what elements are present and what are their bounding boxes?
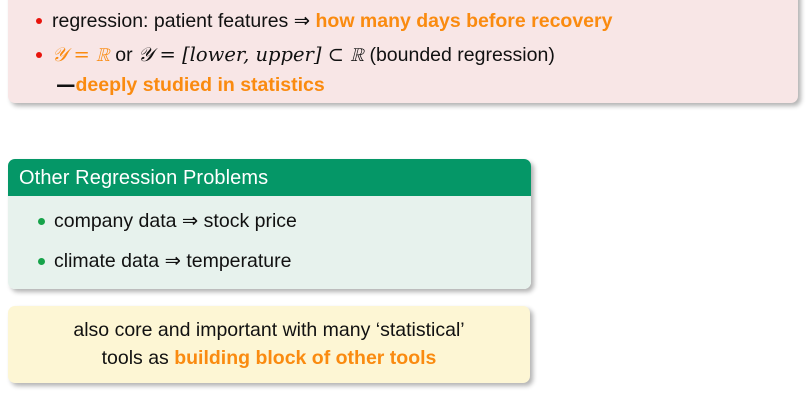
example-block-title: Other Regression Problems xyxy=(8,159,531,196)
list-item: company data ⇒ stock price xyxy=(20,205,519,237)
em-dash-icon: — xyxy=(56,73,76,96)
example-bullet-list: company data ⇒ stock price climate data … xyxy=(20,205,519,277)
alert-subline: —deeply studied in statistics xyxy=(52,70,784,100)
bullet-text-emphasis: how many days before recovery xyxy=(310,10,612,32)
bullet-text-before: climate data xyxy=(54,250,165,272)
math-set-y-bounded-interval: 𝒴 = [lower, upper] ⊂ ℝ xyxy=(138,43,364,66)
other-regression-problems-block: Other Regression Problems company data ⇒… xyxy=(8,159,531,289)
implies-arrow-icon: ⇒ xyxy=(165,249,181,272)
implies-arrow-icon: ⇒ xyxy=(294,9,310,32)
bullet-dot-icon xyxy=(36,18,42,24)
list-item: regression: patient features ⇒ how many … xyxy=(22,6,784,36)
summary-block: also core and important with many ‘stati… xyxy=(8,306,530,383)
slide-canvas: regression: patient features ⇒ how many … xyxy=(0,0,809,408)
bullet-dot-icon xyxy=(38,258,45,265)
bullet-text-before: company data xyxy=(54,210,182,232)
bounded-regression-note: (bounded regression) xyxy=(364,44,555,66)
summary-line-1: also core and important with many ‘stati… xyxy=(22,316,516,344)
bullet-dot-icon xyxy=(36,52,42,58)
bullet-text-after: temperature xyxy=(181,250,292,272)
bullet-text-prefix: regression: patient features xyxy=(52,10,294,32)
example-block-body: company data ⇒ stock price climate data … xyxy=(8,196,531,289)
math-set-y-equals-reals-orange: 𝒴 = ℝ xyxy=(52,43,110,66)
implies-arrow-icon: ⇒ xyxy=(182,209,198,232)
summary-line-2: tools as building block of other tools xyxy=(22,344,516,372)
list-item: 𝒴 = ℝ or 𝒴 = [lower, upper] ⊂ ℝ (bounded… xyxy=(22,40,784,100)
alert-subline-emphasis: deeply studied in statistics xyxy=(76,74,325,96)
list-item: climate data ⇒ temperature xyxy=(20,245,519,277)
conjunction-or: or xyxy=(110,44,138,66)
bullet-text-after: stock price xyxy=(198,210,297,232)
summary-line-2-emphasis: building block of other tools xyxy=(174,347,436,369)
alert-bullet-list: regression: patient features ⇒ how many … xyxy=(22,6,784,100)
bullet-dot-icon xyxy=(38,218,45,225)
summary-line-2-before: tools as xyxy=(102,347,175,369)
regression-definition-alert-block: regression: patient features ⇒ how many … xyxy=(8,0,798,103)
